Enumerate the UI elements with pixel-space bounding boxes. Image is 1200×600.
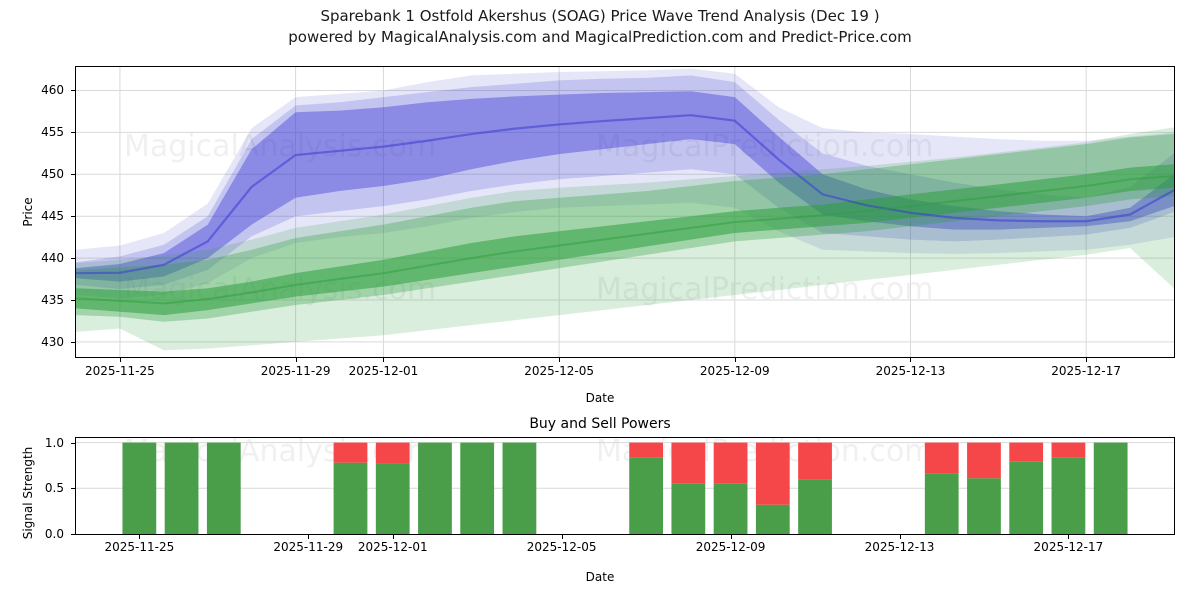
signal-x-tickmark xyxy=(900,535,901,539)
price-x-tick: 2025-12-13 xyxy=(876,364,946,378)
signal-x-tick: 2025-12-09 xyxy=(696,540,766,554)
price-y-tickmark xyxy=(71,216,75,217)
price-y-tick: 445 xyxy=(8,209,64,223)
price-x-tick: 2025-12-01 xyxy=(349,364,419,378)
page-title: Sparebank 1 Ostfold Akershus (SOAG) Pric… xyxy=(0,6,1200,48)
price-x-tickmark xyxy=(1086,358,1087,362)
chart-page: Sparebank 1 Ostfold Akershus (SOAG) Pric… xyxy=(0,0,1200,600)
price-x-axis-label: Date xyxy=(0,391,1200,405)
signal-x-tickmark xyxy=(308,535,309,539)
price-y-tick: 450 xyxy=(8,167,64,181)
title-line-1: Sparebank 1 Ostfold Akershus (SOAG) Pric… xyxy=(0,6,1200,27)
signal-x-tick: 2025-12-13 xyxy=(865,540,935,554)
price-x-tick: 2025-12-09 xyxy=(700,364,770,378)
signal-x-tickmark xyxy=(1068,535,1069,539)
signal-x-tickmark xyxy=(139,535,140,539)
title-line-2: powered by MagicalAnalysis.com and Magic… xyxy=(0,27,1200,48)
signal-y-tick: 0.5 xyxy=(8,481,64,495)
buy-sell-powers-chart: MagicalAnalysis.com MagicalPrediction.co… xyxy=(75,437,1175,535)
price-y-tickmark xyxy=(71,132,75,133)
price-plot-area xyxy=(76,67,1174,357)
signal-x-tickmark xyxy=(731,535,732,539)
signal-y-tickmark xyxy=(71,534,75,535)
signal-x-tick: 2025-11-25 xyxy=(104,540,174,554)
price-x-tick: 2025-12-17 xyxy=(1051,364,1121,378)
price-y-tickmark xyxy=(71,174,75,175)
signal-chart-title: Buy and Sell Powers xyxy=(0,416,1200,432)
signal-y-tick: 0.0 xyxy=(8,527,64,541)
price-x-tickmark xyxy=(910,358,911,362)
price-y-tick: 430 xyxy=(8,335,64,349)
price-y-tickmark xyxy=(71,300,75,301)
price-x-tickmark xyxy=(735,358,736,362)
price-wave-chart: MagicalAnalysis.com MagicalPrediction.co… xyxy=(75,66,1175,358)
signal-x-tick: 2025-12-01 xyxy=(358,540,428,554)
price-y-tickmark xyxy=(71,90,75,91)
signal-x-tick: 2025-12-17 xyxy=(1034,540,1104,554)
price-y-tick: 435 xyxy=(8,293,64,307)
price-x-tick: 2025-11-29 xyxy=(261,364,331,378)
price-y-tick: 460 xyxy=(8,83,64,97)
signal-x-tick: 2025-11-29 xyxy=(273,540,343,554)
signal-plot-area xyxy=(76,438,1174,534)
signal-y-tickmark xyxy=(71,488,75,489)
price-x-tickmark xyxy=(296,358,297,362)
signal-x-axis-label: Date xyxy=(0,570,1200,584)
price-y-tick: 440 xyxy=(8,251,64,265)
signal-x-tickmark xyxy=(562,535,563,539)
price-x-tick: 2025-11-25 xyxy=(85,364,155,378)
price-y-tickmark xyxy=(71,342,75,343)
price-x-tickmark xyxy=(559,358,560,362)
signal-x-tickmark xyxy=(393,535,394,539)
price-x-tickmark xyxy=(383,358,384,362)
price-x-tickmark xyxy=(120,358,121,362)
signal-y-tick: 1.0 xyxy=(8,436,64,450)
signal-x-tick: 2025-12-05 xyxy=(527,540,597,554)
signal-y-tickmark xyxy=(71,443,75,444)
price-y-tick: 455 xyxy=(8,125,64,139)
price-y-tickmark xyxy=(71,258,75,259)
price-x-tick: 2025-12-05 xyxy=(524,364,594,378)
